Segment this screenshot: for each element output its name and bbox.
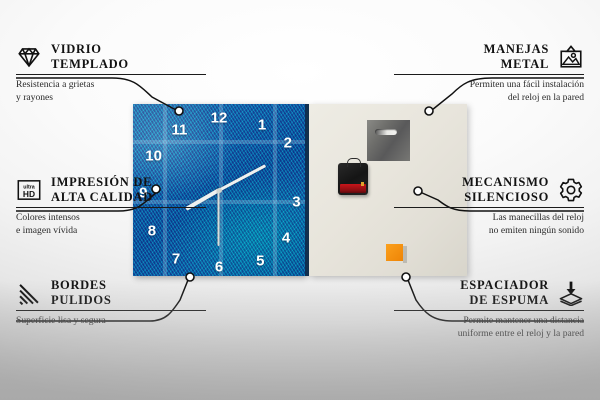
feature-divider [394,74,584,75]
polished-edge-icon [16,280,42,306]
feature-description: Colores intensos e imagen vívida [16,212,206,237]
feature-title: MANEJAS METAL [484,42,549,71]
feature-description: Superficie lisa y segura [16,315,206,328]
feature-divider [394,207,584,208]
infographic-canvas: 12 1 2 3 4 5 6 7 8 9 10 11 [0,0,600,400]
feature-divider [16,310,206,311]
feature-divider [16,207,206,208]
foam-spacer-icon [558,280,584,306]
diamond-icon [16,44,42,70]
feature-espaciador-espuma: ESPACIADOR DE ESPUMA Permite mantener un… [394,278,584,341]
feature-description: Permiten una fácil instalación del reloj… [394,79,584,104]
connector-dot-vidrio-templado [175,107,183,115]
feature-impresion-alta-calidad: ultra HD IMPRESIÓN DE ALTA CALIDAD Color… [16,175,206,238]
feature-title: VIDRIO TEMPLADO [51,42,129,71]
feature-description: Resistencia a grietas y rayones [16,79,206,104]
connector-dot-manejas [425,107,433,115]
feature-description: Permite mantener una distancia uniforme … [394,315,584,340]
feature-bordes-pulidos: BORDES PULIDOS Superficie lisa y segura [16,278,206,328]
feature-manejas-metal: MANEJAS METAL Permiten una fácil instala… [394,42,584,105]
feature-description: Las manecillas del reloj no emiten ningú… [394,212,584,237]
gear-icon [558,177,584,203]
feature-mecanismo-silencioso: MECANISMO SILENCIOSO Las manecillas del … [394,175,584,238]
feature-title: MECANISMO SILENCIOSO [462,175,549,204]
feature-divider [16,74,206,75]
feature-divider [394,310,584,311]
ultra-hd-icon: ultra HD [16,177,42,203]
feature-title: IMPRESIÓN DE ALTA CALIDAD [51,175,153,204]
feature-title: BORDES PULIDOS [51,278,111,307]
picture-frame-icon [558,44,584,70]
svg-text:HD: HD [23,188,35,198]
feature-vidrio-templado: VIDRIO TEMPLADO Resistencia a grietas y … [16,42,206,105]
feature-title: ESPACIADOR DE ESPUMA [460,278,549,307]
